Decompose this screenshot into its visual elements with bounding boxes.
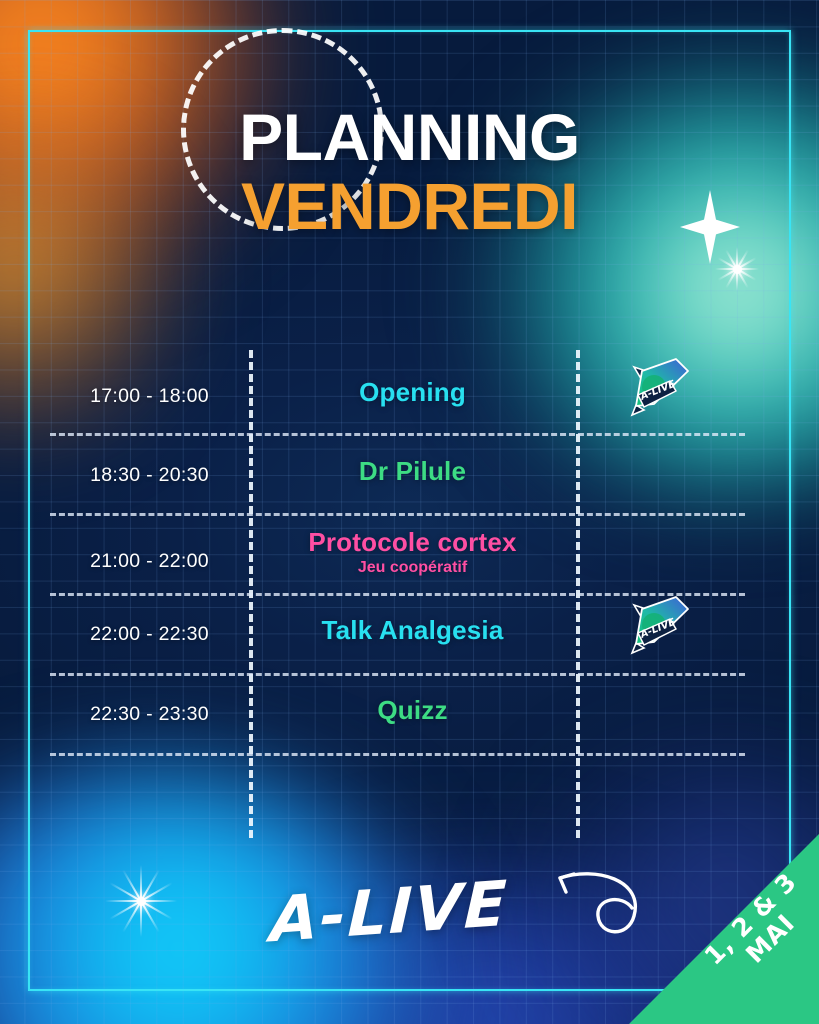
row-subtitle: Jeu coopératif (249, 559, 576, 577)
row-title: Protocole cortex (249, 527, 576, 558)
row-divider-2 (50, 513, 745, 516)
row-time: 18:30 - 20:30 (50, 464, 249, 487)
row-title: Quizz (249, 695, 576, 726)
row-badge: A-LIVE (576, 357, 745, 422)
schedule-table: 17:00 - 18:00 Opening (0, 0, 819, 1024)
row-time: 17:00 - 18:00 (50, 385, 249, 408)
row-divider-4 (50, 673, 745, 676)
planning-poster: PLANNING VENDREDI 17:00 - 18:00 Opening (0, 0, 819, 1024)
row-badge: A-LIVE (576, 595, 745, 660)
row-divider-1 (50, 433, 745, 436)
row-time: 22:30 - 23:30 (50, 703, 249, 726)
rocket-logo-icon: A-LIVE (630, 357, 692, 417)
row-title: Talk Analgesia (249, 615, 576, 646)
row-divider-5 (50, 753, 745, 756)
row-time: 21:00 - 22:00 (50, 550, 249, 573)
row-title: Opening (249, 377, 576, 408)
curly-arrow-icon (548, 864, 658, 959)
row-time: 22:00 - 22:30 (50, 623, 249, 646)
row-title: Dr Pilule (249, 456, 576, 487)
rocket-logo-icon: A-LIVE (630, 595, 692, 655)
